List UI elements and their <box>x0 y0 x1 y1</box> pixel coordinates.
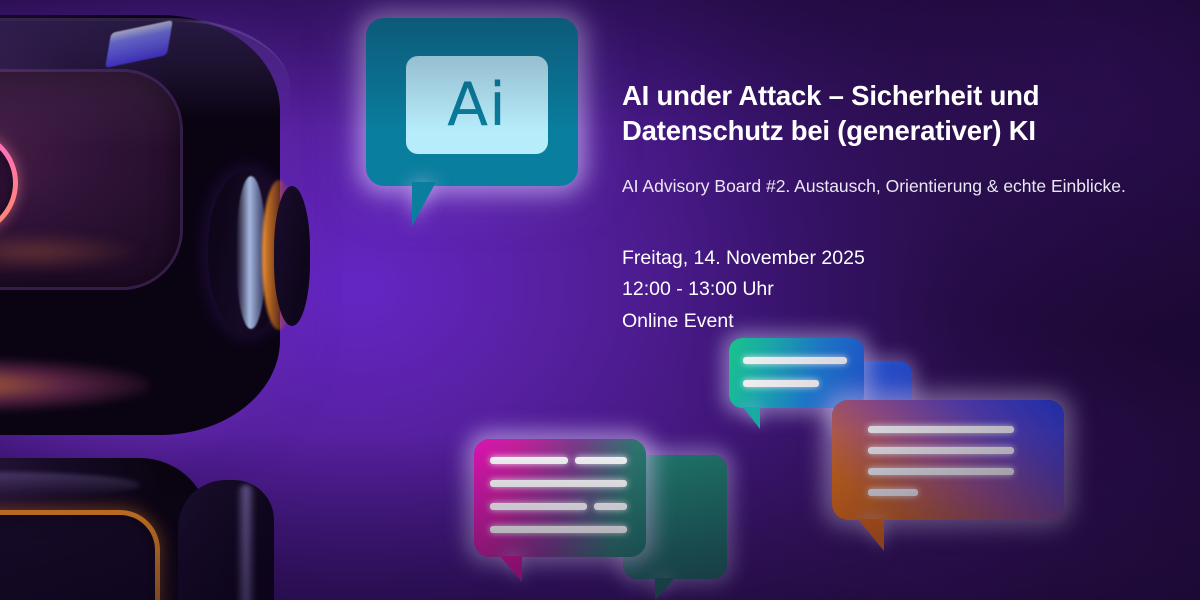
event-text-block: AI under Attack – Sicherheit und Datensc… <box>622 78 1188 338</box>
event-details: Freitag, 14. November 2025 12:00 - 13:00… <box>622 243 1188 338</box>
event-date: Freitag, 14. November 2025 <box>622 243 1188 275</box>
event-subtitle: AI Advisory Board #2. Austausch, Orienti… <box>622 174 1188 199</box>
event-title: AI under Attack – Sicherheit und Datensc… <box>622 78 1188 148</box>
event-format: Online Event <box>622 306 1188 338</box>
event-banner: Ai AI under Attack – Sicherheit und Date… <box>0 0 1200 600</box>
event-time: 12:00 - 13:00 Uhr <box>622 274 1188 306</box>
